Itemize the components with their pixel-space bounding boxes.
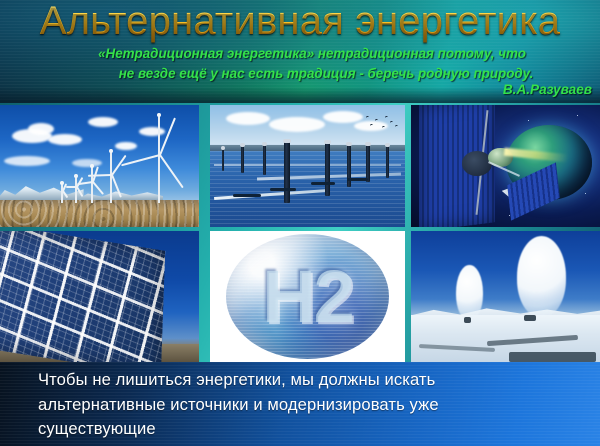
wind-farm-photo	[0, 105, 199, 227]
photo-gallery: H2	[0, 103, 600, 362]
page-title: Альтернативная энергетика	[0, 0, 600, 44]
solar-array-illustration	[0, 231, 199, 362]
epigraph-author: В.А.Разуваев	[503, 82, 592, 97]
tidal-turbines-illustration	[210, 105, 405, 227]
caption-line-3: существующие	[38, 417, 582, 442]
geothermal-steam-photo	[411, 231, 600, 362]
hydrogen-label: H2	[210, 231, 405, 362]
epigraph-line-1: «Нетрадиционная энергетика» нетрадиционн…	[34, 44, 590, 64]
rocky-ridge	[0, 200, 199, 227]
tidal-turbines-photo	[210, 105, 405, 227]
slide-header: Альтернативная энергетика «Нетрадиционна…	[0, 0, 600, 103]
epigraph-line-2: не везде ещё у нас есть традиция - береч…	[34, 64, 590, 84]
caption-line-1: Чтобы не лишиться энергетики, мы должны …	[38, 368, 582, 393]
epigraph-quote: «Нетрадиционная энергетика» нетрадиционн…	[34, 44, 590, 83]
space-solar-satellite-photo	[411, 105, 600, 227]
wind-farm-illustration	[0, 105, 199, 227]
presentation-slide: Альтернативная энергетика «Нетрадиционна…	[0, 0, 600, 446]
space-solar-illustration	[411, 105, 600, 227]
steam-plume-large	[517, 236, 566, 317]
solar-panel-array-photo	[0, 231, 199, 362]
caption-text: Чтобы не лишиться энергетики, мы должны …	[38, 368, 582, 442]
hydrogen-illustration: H2	[210, 231, 405, 362]
hydrogen-globe-photo: H2	[210, 231, 405, 362]
caption-line-2: альтернативные источники и модернизирова…	[38, 393, 582, 418]
steam-plume-small	[456, 265, 482, 320]
geothermal-illustration	[411, 231, 600, 362]
slide-caption: Чтобы не лишиться энергетики, мы должны …	[0, 362, 600, 446]
